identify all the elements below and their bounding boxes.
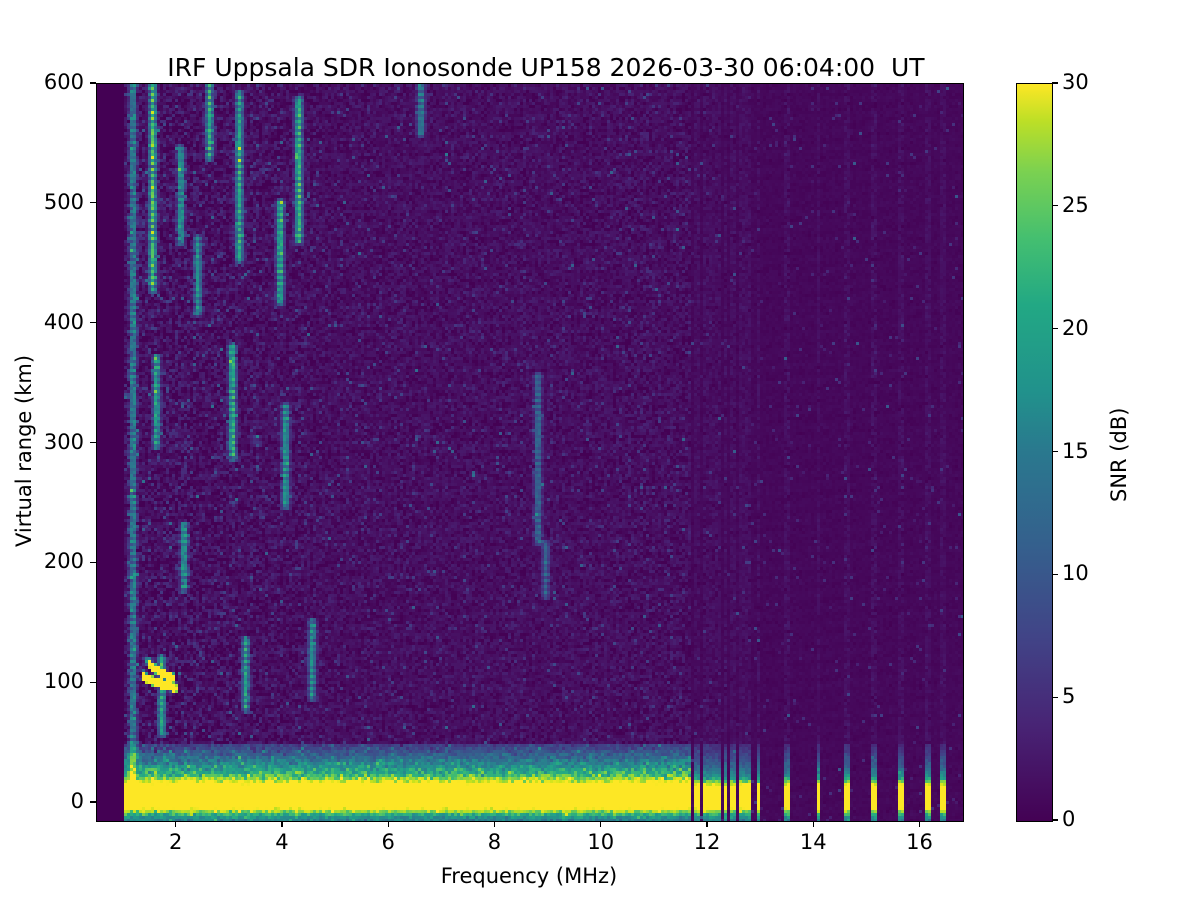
colorbar-tick-mark [1052,697,1058,698]
y-axis-label: Virtual range (km) [12,354,36,546]
colorbar-tick-mark [1052,328,1058,329]
colorbar-tick-mark [1052,819,1058,820]
x-tick-label: 6 [358,832,418,853]
x-tick-mark [919,821,920,827]
y-tick-label: 500 [20,192,84,213]
y-tick-mark [90,801,96,802]
x-tick-mark [388,821,389,827]
heatmap-canvas-wrap [97,84,963,821]
colorbar-tick-label: 30 [1062,72,1089,93]
ionogram-plot-area [96,83,964,822]
x-tick-label: 14 [783,832,843,853]
y-tick-mark [90,82,96,83]
colorbar-tick-label: 20 [1062,318,1089,339]
y-tick-label: 0 [20,791,84,812]
y-tick-label: 100 [20,671,84,692]
ionogram-heatmap [97,84,963,821]
colorbar-tick-label: 15 [1062,441,1089,462]
colorbar-tick-label: 5 [1062,686,1075,707]
colorbar-tick-mark [1052,574,1058,575]
ionogram-figure: IRF Uppsala SDR Ionosonde UP158 2026-03-… [0,0,1200,900]
x-tick-mark [494,821,495,827]
y-tick-mark [90,442,96,443]
x-tick-label: 4 [252,832,312,853]
colorbar-tick-mark [1052,82,1058,83]
title-line-1: IRF Uppsala SDR Ionosonde UP158 2026-03-… [167,53,924,82]
x-tick-mark [813,821,814,827]
y-tick-label: 400 [20,312,84,333]
x-tick-label: 2 [146,832,206,853]
y-tick-mark [90,322,96,323]
y-tick-mark [90,202,96,203]
y-tick-mark [90,562,96,563]
y-tick-mark [90,682,96,683]
colorbar-tick-mark [1052,205,1058,206]
x-tick-mark [281,821,282,827]
x-tick-mark [175,821,176,827]
y-tick-label: 600 [20,72,84,93]
x-axis-label: Frequency (MHz) [96,864,962,888]
colorbar-tick-label: 10 [1062,563,1089,584]
x-tick-mark [600,821,601,827]
colorbar [1016,83,1053,822]
colorbar-tick-mark [1052,451,1058,452]
colorbar-tick-label: 25 [1062,195,1089,216]
x-tick-label: 12 [677,832,737,853]
colorbar-label: SNR (dB) [1107,407,1131,501]
x-tick-label: 10 [571,832,631,853]
x-tick-mark [706,821,707,827]
colorbar-tick-label: 0 [1062,809,1075,830]
y-tick-label: 200 [20,551,84,572]
x-tick-label: 16 [889,832,949,853]
x-tick-label: 8 [464,832,524,853]
